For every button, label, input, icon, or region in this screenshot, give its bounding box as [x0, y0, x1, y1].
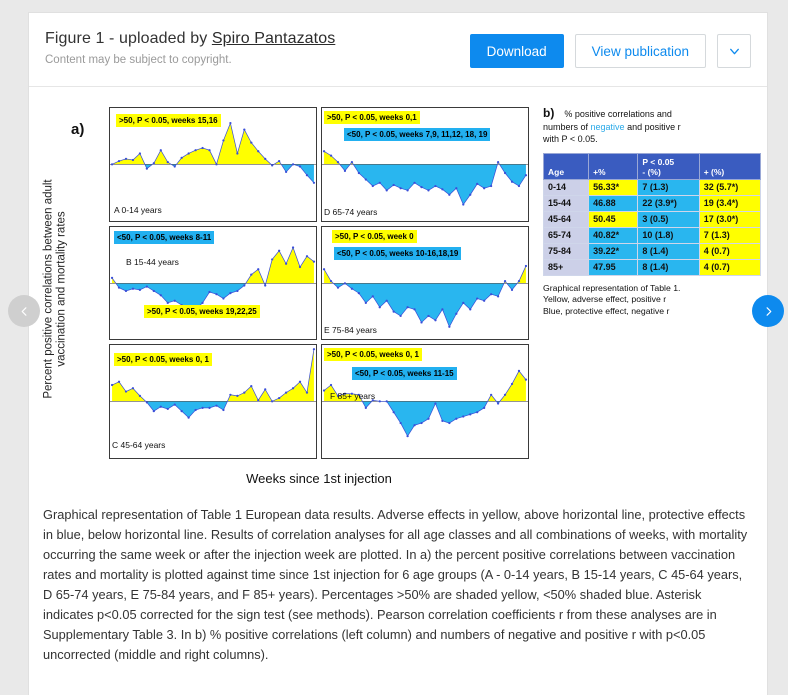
- chart-panel-f: >50, P < 0.05, weeks 0, 1<50, P < 0.05, …: [321, 344, 529, 459]
- chart-panel-b: <50, P < 0.05, weeks 8-11>50, P < 0.05, …: [109, 226, 317, 341]
- figure-title-prefix: Figure 1 - uploaded by: [45, 30, 212, 47]
- chart-svg-e: [322, 227, 528, 340]
- cell-age: 75-84: [544, 243, 589, 259]
- panel-b-annotation-2: >50, P < 0.05, weeks 19,22,25: [144, 305, 260, 318]
- cell-positive-pct: 47.95: [589, 259, 638, 275]
- cell-positive-pct: 40.82*: [589, 227, 638, 243]
- more-options-button[interactable]: [717, 34, 751, 68]
- col-header-pct: +%: [589, 153, 638, 179]
- cell-age: 85+: [544, 259, 589, 275]
- cell-positive-count: 4 (0.7): [699, 243, 760, 259]
- panel-d-annotation-2: <50, P < 0.05, weeks 7,9, 11,12, 18, 19: [344, 128, 490, 141]
- table-row: 0-1456.33*7 (1.3)32 (5.7*): [544, 179, 761, 195]
- panel-a-label: A 0-14 years: [114, 205, 162, 215]
- cell-positive-pct: 56.33*: [589, 179, 638, 195]
- chevron-left-icon: [19, 306, 30, 317]
- chevron-down-icon: [728, 45, 741, 58]
- panel-f-label: F 85+ years: [330, 391, 375, 401]
- panel-e-label: E 75-84 years: [324, 325, 377, 335]
- panel-d-label: D 65-74 years: [324, 207, 377, 217]
- previous-figure-button[interactable]: [8, 295, 40, 327]
- chart-svg-f: [322, 345, 528, 458]
- panel-b-foot-line3: Blue, protective effect, negative r: [543, 306, 669, 316]
- view-publication-button[interactable]: View publication: [575, 34, 706, 68]
- x-axis-ticks: 0510152025: [110, 458, 316, 459]
- y-axis-label: Percent positive correlations between ad…: [43, 139, 69, 439]
- panel-b-head-line2a: numbers of: [543, 122, 591, 132]
- download-button[interactable]: Download: [470, 34, 564, 68]
- y-axis-label-line2: vaccination and mortality rates: [56, 211, 68, 366]
- table-row: 75-8439.22*8 (1.4)4 (0.7): [544, 243, 761, 259]
- panel-b-head-line2c: and positive r: [625, 122, 681, 132]
- figure-canvas: a) Percent positive correlations between…: [43, 99, 753, 491]
- chevron-right-icon: [763, 306, 774, 317]
- table-row: 65-7440.82*10 (1.8)7 (1.3): [544, 227, 761, 243]
- next-figure-button[interactable]: [752, 295, 784, 327]
- chart-svg-d: [322, 108, 528, 221]
- panel-a-letter: a): [71, 121, 84, 138]
- cell-negative-count: 3 (0.5): [638, 211, 699, 227]
- cell-negative-count: 8 (1.4): [638, 243, 699, 259]
- panel-b-annotation-1: <50, P < 0.05, weeks 8-11: [114, 231, 214, 244]
- header-actions: Download View publication: [470, 34, 751, 68]
- cell-negative-count: 22 (3.9*): [638, 195, 699, 211]
- chart-panel-d: >50, P < 0.05, weeks 0,1<50, P < 0.05, w…: [321, 107, 529, 222]
- panel-b: b) % positive correlations and numbers o…: [543, 107, 761, 459]
- cell-positive-count: 32 (5.7*): [699, 179, 760, 195]
- col-header-negative-line1: P < 0.05: [642, 157, 674, 167]
- cell-positive-count: 19 (3.4*): [699, 195, 760, 211]
- panel-b-head-negative: negative: [591, 122, 625, 132]
- col-header-positive: + (%): [699, 153, 760, 179]
- cell-positive-pct: 39.22*: [589, 243, 638, 259]
- col-header-negative-line2: - (%): [642, 167, 660, 177]
- table-header-row: Age +% P < 0.05 - (%) + (%): [544, 153, 761, 179]
- cell-age: 0-14: [544, 179, 589, 195]
- cell-negative-count: 7 (1.3): [638, 179, 699, 195]
- cell-age: 65-74: [544, 227, 589, 243]
- chart-panel-c: >50, P < 0.05, weeks 0, 1C 45-64 years05…: [109, 344, 317, 459]
- x-axis-ticks: 0510152025: [322, 458, 528, 459]
- cell-positive-count: 7 (1.3): [699, 227, 760, 243]
- cell-negative-count: 10 (1.8): [638, 227, 699, 243]
- cell-positive-count: 4 (0.7): [699, 259, 760, 275]
- panel-b-heading: b) % positive correlations and numbers o…: [543, 107, 761, 146]
- correlations-table: Age +% P < 0.05 - (%) + (%) 0-1456.33*7 …: [543, 153, 761, 276]
- panel-a-annotation-1: >50, P < 0.05, weeks 15,16: [116, 114, 221, 127]
- cell-positive-pct: 50.45: [589, 211, 638, 227]
- figure-card: Figure 1 - uploaded by Spiro Pantazatos …: [28, 12, 768, 695]
- figure-image[interactable]: a) Percent positive correlations between…: [43, 99, 753, 491]
- table-row: 15-4446.8822 (3.9*)19 (3.4*): [544, 195, 761, 211]
- col-header-age: Age: [544, 153, 589, 179]
- cell-positive-pct: 46.88: [589, 195, 638, 211]
- table-body: 0-1456.33*7 (1.3)32 (5.7*)15-4446.8822 (…: [544, 179, 761, 275]
- chart-panel-a: >50, P < 0.05, weeks 15,16A 0-14 years05…: [109, 107, 317, 222]
- panel-c-label: C 45-64 years: [112, 440, 165, 450]
- panel-e-annotation-2: <50, P < 0.05, weeks 10-16,18,19: [334, 247, 461, 260]
- cell-negative-count: 8 (1.4): [638, 259, 699, 275]
- y-axis-label-line1: Percent positive correlations between ad…: [43, 179, 55, 398]
- cell-age: 15-44: [544, 195, 589, 211]
- panel-grid: >50, P < 0.05, weeks 15,16A 0-14 years05…: [109, 107, 529, 459]
- panel-d-annotation-1: >50, P < 0.05, weeks 0,1: [324, 111, 420, 124]
- cell-positive-count: 17 (3.0*): [699, 211, 760, 227]
- panel-e-annotation-1: >50, P < 0.05, week 0: [332, 230, 417, 243]
- panel-f-annotation-1: >50, P < 0.05, weeks 0, 1: [324, 348, 422, 361]
- x-axis-label: Weeks since 1st injection: [109, 471, 529, 486]
- panel-b-foot-line2: Yellow, adverse effect, positive r: [543, 294, 666, 304]
- chart-panel-e: >50, P < 0.05, week 0<50, P < 0.05, week…: [321, 226, 529, 341]
- panel-b-foot-line1: Graphical representation of Table 1.: [543, 283, 680, 293]
- table-row: 85+47.958 (1.4)4 (0.7): [544, 259, 761, 275]
- page-root: Figure 1 - uploaded by Spiro Pantazatos …: [0, 0, 788, 695]
- panel-b-label: B 15-44 years: [126, 257, 179, 267]
- panel-b-head-line3: with P < 0.05.: [543, 134, 598, 144]
- card-header: Figure 1 - uploaded by Spiro Pantazatos …: [29, 13, 767, 87]
- panel-b-footnote: Graphical representation of Table 1. Yel…: [543, 283, 761, 318]
- panel-b-letter: b): [543, 106, 554, 120]
- author-link[interactable]: Spiro Pantazatos: [212, 30, 335, 47]
- panel-b-head-line1: % positive correlations and: [564, 109, 672, 119]
- table-row: 45-6450.453 (0.5)17 (3.0*): [544, 211, 761, 227]
- cell-age: 45-64: [544, 211, 589, 227]
- col-header-negative: P < 0.05 - (%): [638, 153, 699, 179]
- panel-f-annotation-2: <50, P < 0.05, weeks 11-15: [352, 367, 457, 380]
- panel-c-annotation-1: >50, P < 0.05, weeks 0, 1: [114, 353, 212, 366]
- figure-caption: Graphical representation of Table 1 Euro…: [43, 505, 753, 665]
